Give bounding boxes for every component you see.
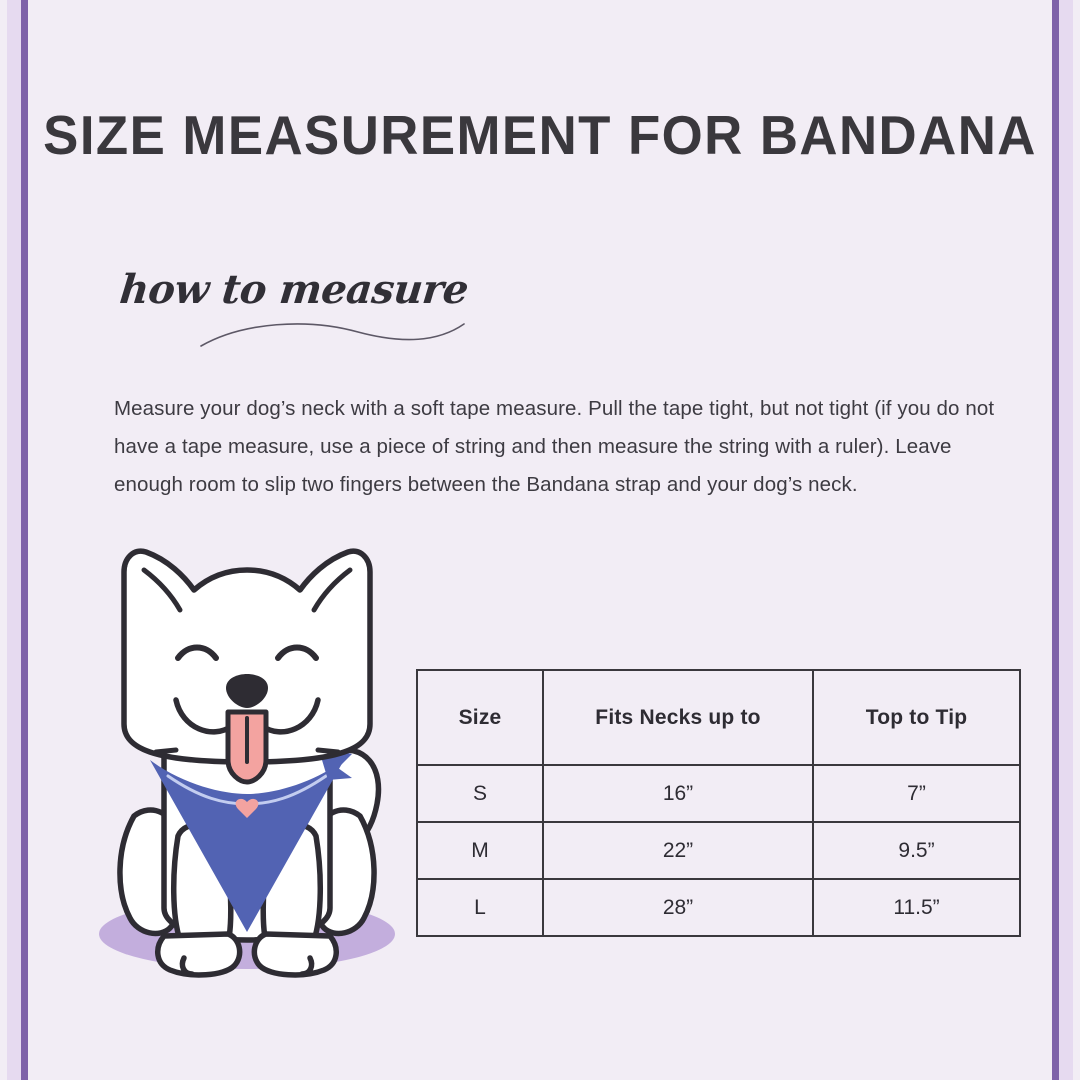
- dog-neck-left: [156, 750, 176, 752]
- page-title: SIZE MEASUREMENT FOR BANDANA: [22, 103, 1059, 167]
- column-header-size: Size: [417, 670, 543, 765]
- size-table: Size Fits Necks up to Top to Tip S 16” 7…: [416, 669, 1021, 937]
- dog-paw-left: [158, 934, 240, 975]
- cell-tip: 7”: [813, 765, 1020, 822]
- size-guide-page: SIZE MEASUREMENT FOR BANDANA how to meas…: [0, 0, 1080, 1080]
- table-header-row: Size Fits Necks up to Top to Tip: [417, 670, 1020, 765]
- cell-neck: 16”: [543, 765, 813, 822]
- dog-illustration: [72, 536, 422, 978]
- cell-tip: 11.5”: [813, 879, 1020, 936]
- table-row: L 28” 11.5”: [417, 879, 1020, 936]
- measure-instructions: Measure your dog’s neck with a soft tape…: [114, 390, 1014, 504]
- cell-size: M: [417, 822, 543, 879]
- table-row: M 22” 9.5”: [417, 822, 1020, 879]
- how-to-measure-heading: how to measure: [118, 266, 471, 313]
- column-header-neck: Fits Necks up to: [543, 670, 813, 765]
- right-soft-rule: [1059, 0, 1073, 1080]
- column-header-tip: Top to Tip: [813, 670, 1020, 765]
- cell-size: L: [417, 879, 543, 936]
- swash-flourish-icon: [198, 314, 468, 354]
- left-soft-rule: [7, 0, 21, 1080]
- cell-size: S: [417, 765, 543, 822]
- cell-neck: 28”: [543, 879, 813, 936]
- cell-tip: 9.5”: [813, 822, 1020, 879]
- dog-neck-right: [318, 750, 338, 752]
- cell-neck: 22”: [543, 822, 813, 879]
- dog-paw-right: [254, 934, 336, 975]
- table-row: S 16” 7”: [417, 765, 1020, 822]
